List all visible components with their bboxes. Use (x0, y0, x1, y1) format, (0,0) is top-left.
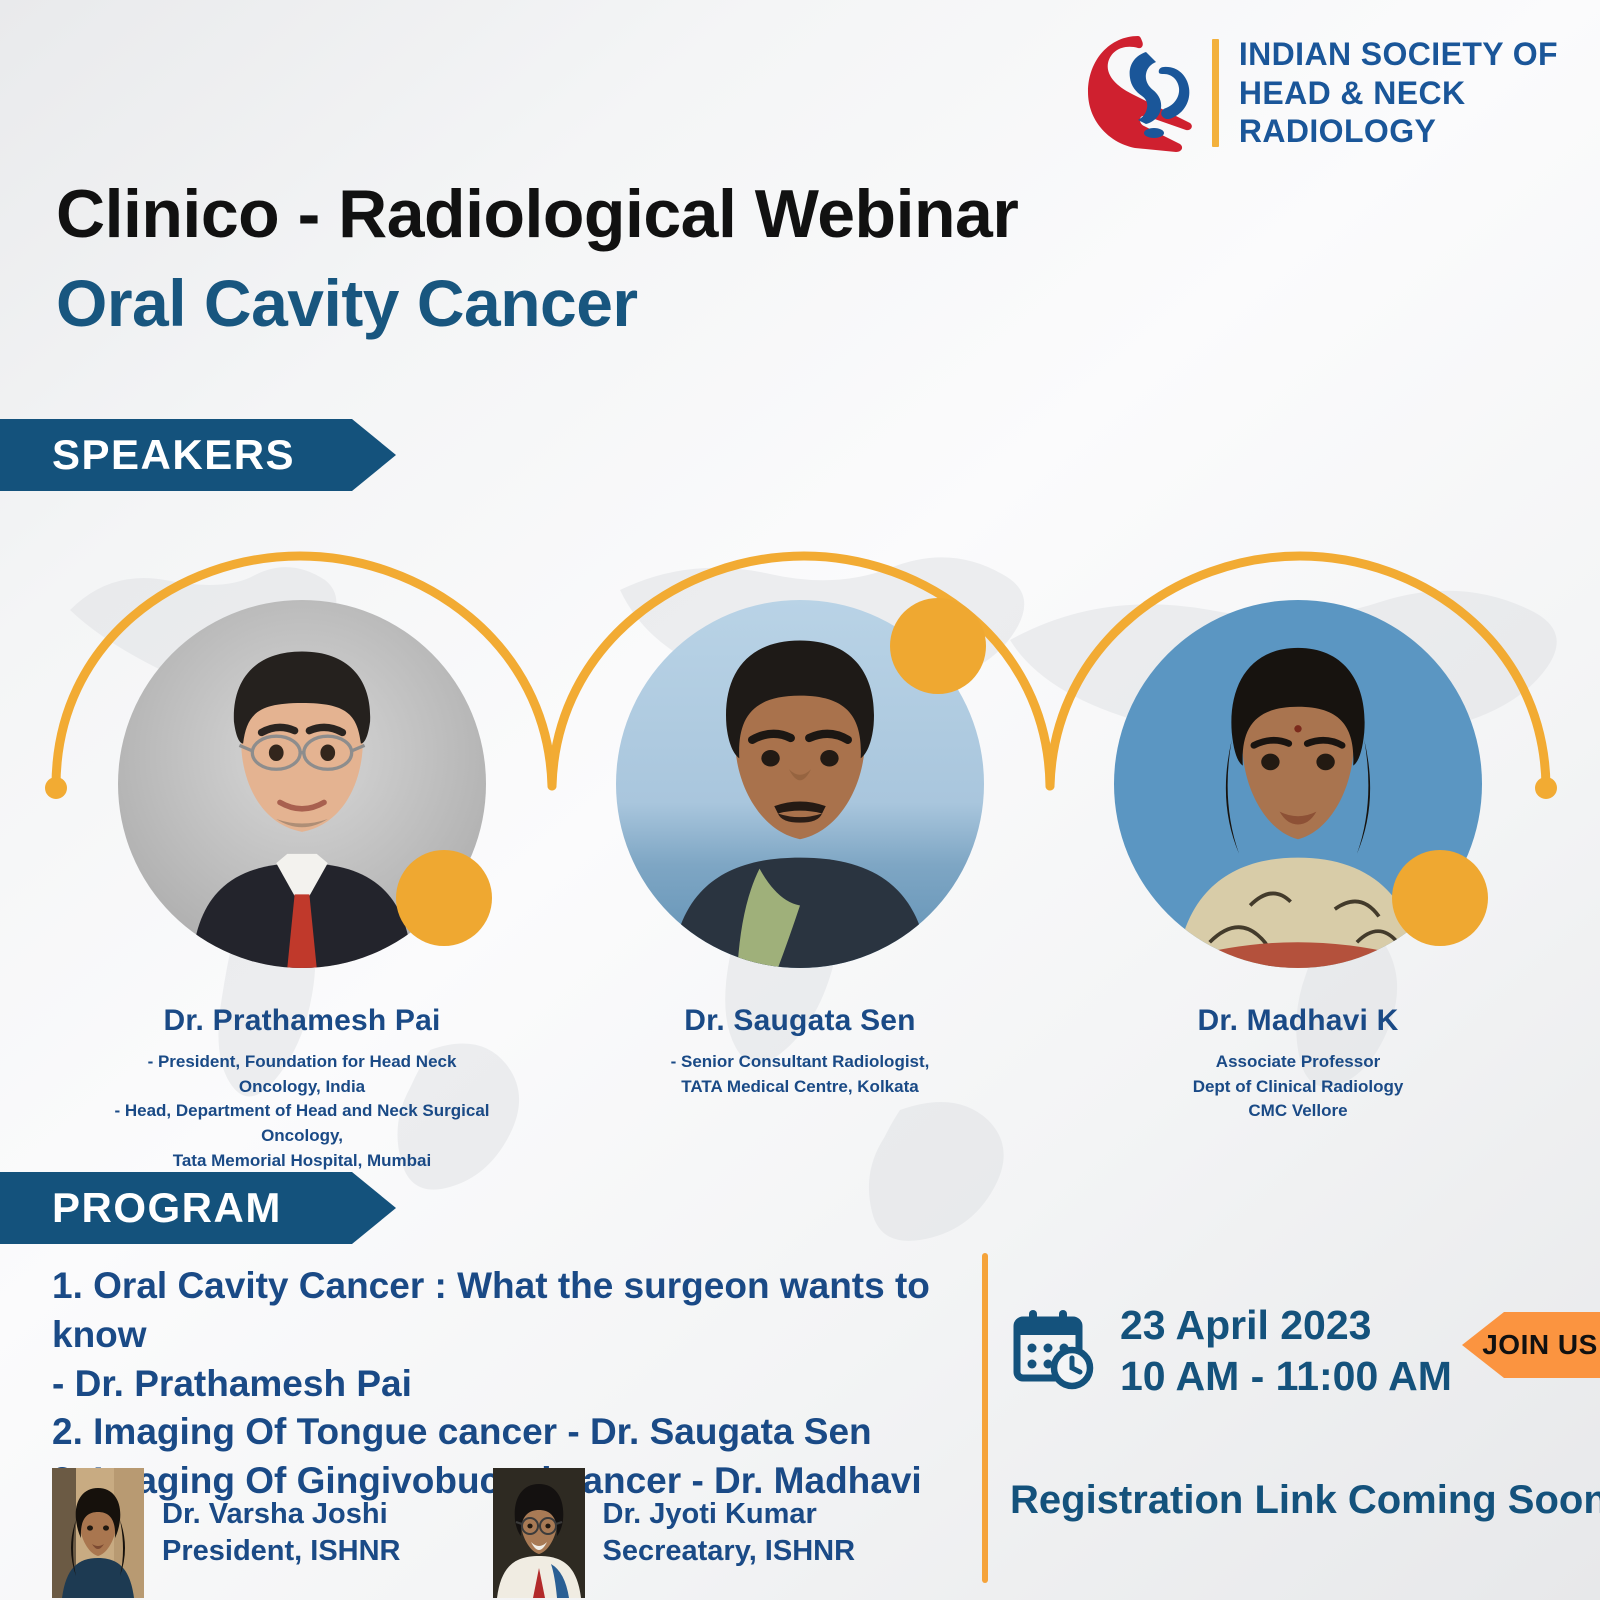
vertical-divider (982, 1253, 988, 1583)
avatar-jyoti-kumar (493, 1468, 585, 1598)
speaker-photo-wrap-2 (616, 600, 984, 968)
speaker-card-2: Dr. Saugata Sen - Senior Consultant Radi… (610, 600, 990, 1173)
speaker-name-3: Dr. Madhavi K (1108, 1004, 1488, 1038)
event-datetime: 23 April 2023 10 AM - 11:00 AM (1012, 1300, 1452, 1402)
accent-circle-2 (890, 598, 986, 694)
section-banner-speakers: SPEAKERS (0, 419, 396, 491)
head-profile-in-hand-icon (1080, 30, 1208, 156)
accent-circle-3 (1392, 850, 1488, 946)
speaker-role-3: Associate Professor Dept of Clinical Rad… (1108, 1050, 1488, 1124)
speaker-role-2: - Senior Consultant Radiologist, TATA Me… (610, 1050, 990, 1099)
speaker-photo-wrap-1 (118, 600, 486, 968)
organizer-label-1: Dr. Varsha Joshi President, ISHNR (162, 1496, 401, 1570)
speaker-card-1: Dr. Prathamesh Pai - President, Foundati… (112, 600, 492, 1173)
organizers-row: Dr. Varsha Joshi President, ISHNR (52, 1468, 855, 1598)
event-datetime-text: 23 April 2023 10 AM - 11:00 AM (1120, 1300, 1452, 1402)
avatar-varsha-joshi (52, 1468, 144, 1598)
webinar-poster: INDIAN SOCIETY OF HEAD & NECK RADIOLOGY … (0, 0, 1600, 1600)
organizer-label-2: Dr. Jyoti Kumar Secreatary, ISHNR (603, 1496, 856, 1570)
accent-circle-1 (396, 850, 492, 946)
speaker-role-1: - President, Foundation for Head Neck On… (112, 1050, 492, 1173)
section-banner-program: PROGRAM (0, 1172, 396, 1244)
calendar-clock-icon (1012, 1308, 1098, 1394)
page-subtitle: Oral Cavity Cancer (56, 265, 638, 341)
speaker-name-1: Dr. Prathamesh Pai (112, 1004, 492, 1038)
speakers-row: Dr. Prathamesh Pai - President, Foundati… (0, 600, 1600, 1173)
logo-divider (1212, 39, 1219, 147)
organizer-2: Dr. Jyoti Kumar Secreatary, ISHNR (493, 1468, 856, 1598)
speaker-card-3: Dr. Madhavi K Associate Professor Dept o… (1108, 600, 1488, 1173)
page-title: Clinico - Radiological Webinar (56, 175, 1018, 253)
organizer-1: Dr. Varsha Joshi President, ISHNR (52, 1468, 401, 1598)
join-us-button[interactable]: JOIN US (1462, 1312, 1600, 1378)
registration-note: Registration Link Coming Soon... (1010, 1478, 1600, 1523)
speaker-name-2: Dr. Saugata Sen (610, 1004, 990, 1038)
speaker-photo-wrap-3 (1114, 600, 1482, 968)
logo-text: INDIAN SOCIETY OF HEAD & NECK RADIOLOGY (1239, 35, 1558, 150)
ishnr-logo: INDIAN SOCIETY OF HEAD & NECK RADIOLOGY (1080, 30, 1558, 156)
